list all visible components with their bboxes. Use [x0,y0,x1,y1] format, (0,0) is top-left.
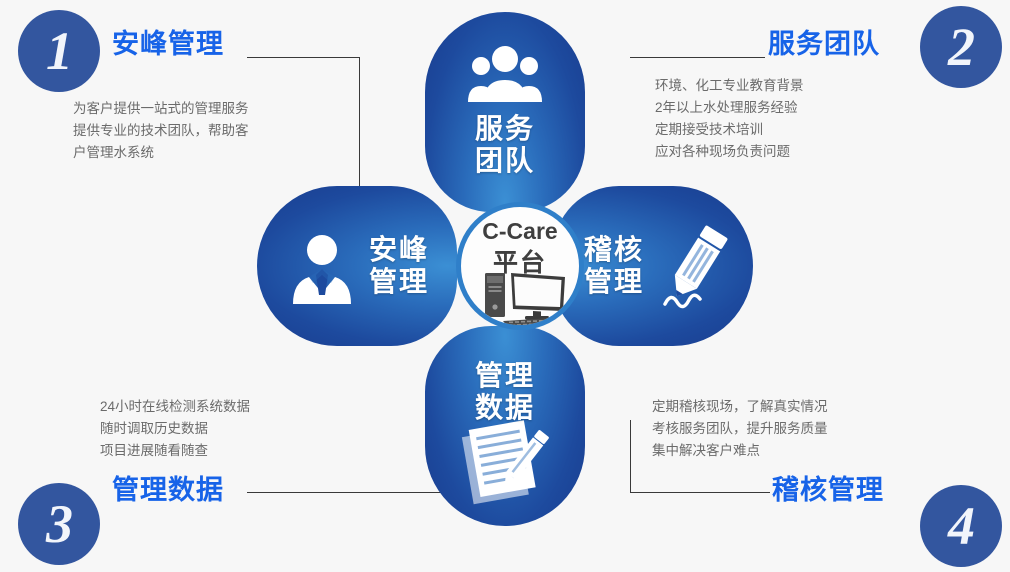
infographic-canvas: 1 2 3 4 安峰管理 服务团队 管理数据 稽核管理 为客户提供一站式的管理服… [0,0,1010,572]
flower-diagram: 服务 团队 稽核 管理 管理 数据 安峰 管理 C-Care 平台 [253,8,793,528]
number-badge-2: 2 [920,6,1002,88]
section-body-3-line-1: 24小时在线检测系统数据 [100,396,250,418]
people-group-icon [465,46,545,102]
section-body-1-line-2: 提供专业的技术团队，帮助客 [73,120,249,142]
number-badge-1: 1 [18,10,100,92]
center-hub[interactable]: C-Care 平台 [456,202,584,330]
hub-title: C-Care [461,219,579,244]
section-body-1-line-3: 户管理水系统 [73,142,249,164]
desktop-computer-icon [483,271,569,329]
section-body-3-line-2: 随时调取历史数据 [100,418,250,440]
petal-service-team[interactable] [425,12,585,212]
petal-label-service-team: 服务 团队 [425,113,585,177]
section-title-management-data: 管理数据 [112,468,224,507]
section-body-3: 24小时在线检测系统数据 随时调取历史数据 项目进展随看随查 [100,396,250,462]
petal-label-anfeng-management: 安峰 管理 [343,234,455,298]
section-body-1: 为客户提供一站式的管理服务 提供专业的技术团队，帮助客 户管理水系统 [73,98,249,164]
number-badge-4: 4 [920,485,1002,567]
number-badge-3: 3 [18,483,100,565]
clipboard-pencil-icon [461,420,551,506]
section-body-3-line-3: 项目进展随看随查 [100,440,250,462]
petal-label-management-data: 管理 数据 [425,360,585,424]
section-body-1-line-1: 为客户提供一站式的管理服务 [73,98,249,120]
section-title-anfeng-management: 安峰管理 [112,22,224,61]
